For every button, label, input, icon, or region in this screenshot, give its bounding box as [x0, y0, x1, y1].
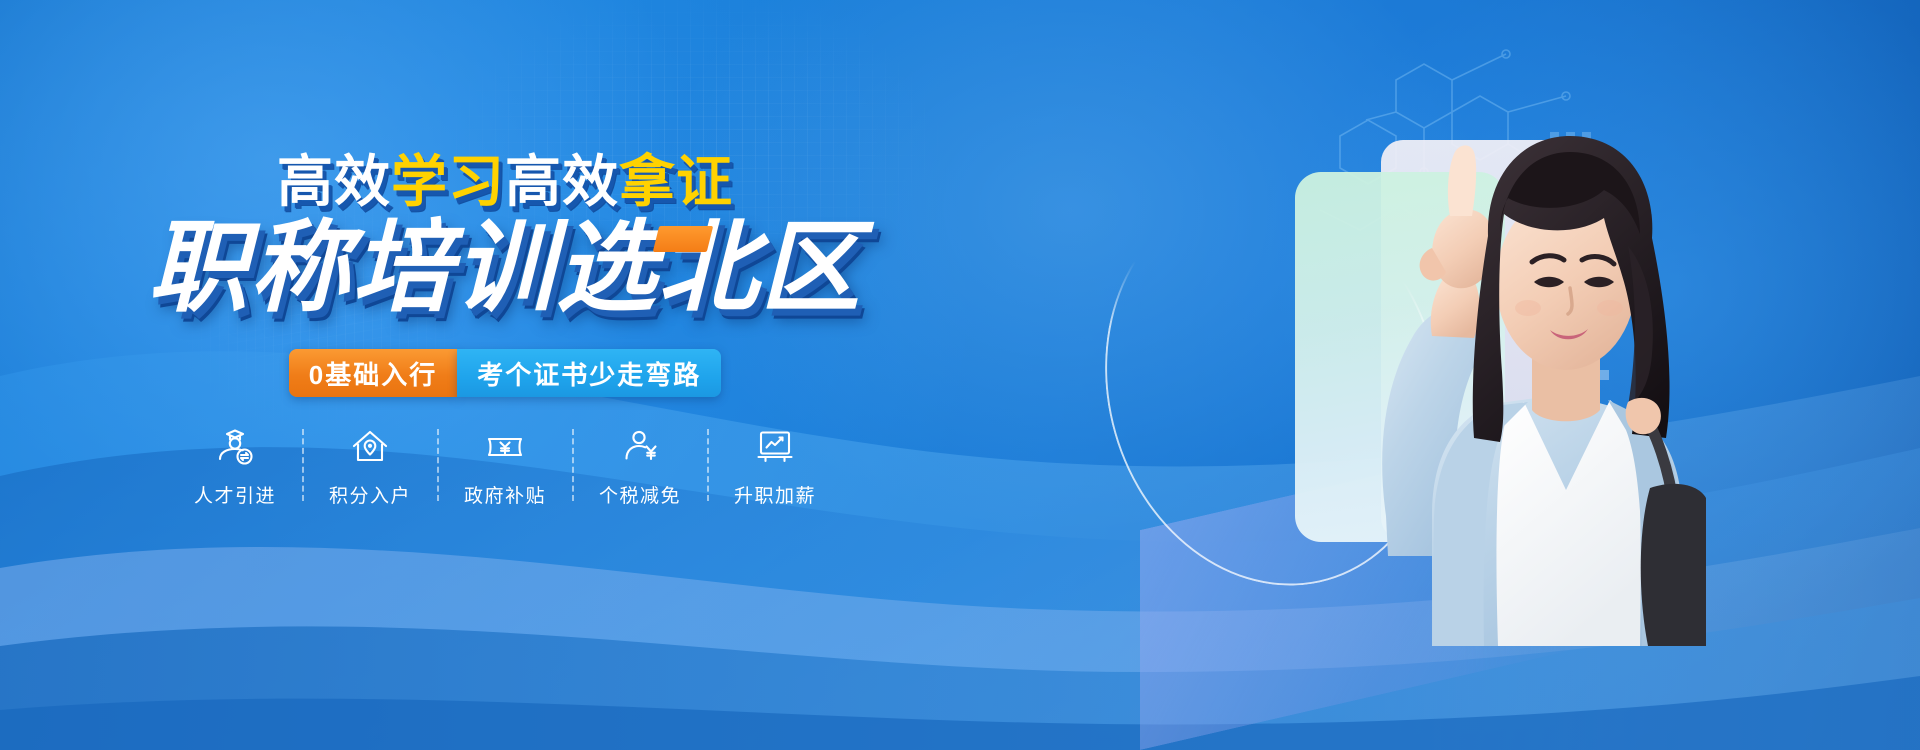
feature-label-taxcut: 个税减免	[599, 481, 681, 508]
feature-label-talent: 人才引进	[194, 481, 276, 508]
house-pin-icon	[348, 425, 392, 469]
headline-top-highlight2: 拿证	[619, 150, 733, 213]
headline-top-part2: 高效	[505, 150, 619, 213]
badge-row: 0基础入行 考个证书少走弯路	[0, 349, 1010, 397]
voucher-yuan-icon	[483, 425, 527, 469]
banner-content: 高效学习高效拿证 职称培训选北区 0基础入行 考个证书少走弯路	[0, 0, 1100, 750]
feature-label-residency: 积分入户	[329, 481, 411, 508]
badge-orange[interactable]: 0基础入行	[289, 349, 457, 397]
headline-top-highlight1: 学习	[391, 150, 505, 213]
person-photo	[1236, 86, 1706, 646]
feature-item-talent[interactable]: 人才引进	[169, 425, 302, 508]
feature-item-taxcut[interactable]: 个税减免	[574, 425, 707, 508]
badge-blue[interactable]: 考个证书少走弯路	[457, 349, 721, 397]
feature-item-residency[interactable]: 积分入户	[304, 425, 437, 508]
graduate-person-icon	[213, 425, 257, 469]
chart-board-icon	[753, 425, 797, 469]
person-yuan-icon	[618, 425, 662, 469]
feature-list: 人才引进 积分入户	[0, 425, 1010, 508]
feature-label-subsidy: 政府补贴	[464, 481, 546, 508]
feature-item-subsidy[interactable]: 政府补贴	[439, 425, 572, 508]
feature-item-promotion[interactable]: 升职加薪	[709, 425, 842, 508]
headline-top: 高效学习高效拿证	[0, 154, 1010, 210]
headline-top-part1: 高效	[277, 150, 391, 213]
headline-main: 职称培训选北区	[0, 218, 1010, 318]
feature-label-promotion: 升职加薪	[734, 481, 816, 508]
promo-banner: 高效学习高效拿证 职称培训选北区 0基础入行 考个证书少走弯路	[0, 0, 1920, 750]
orange-accent-block	[653, 226, 713, 252]
